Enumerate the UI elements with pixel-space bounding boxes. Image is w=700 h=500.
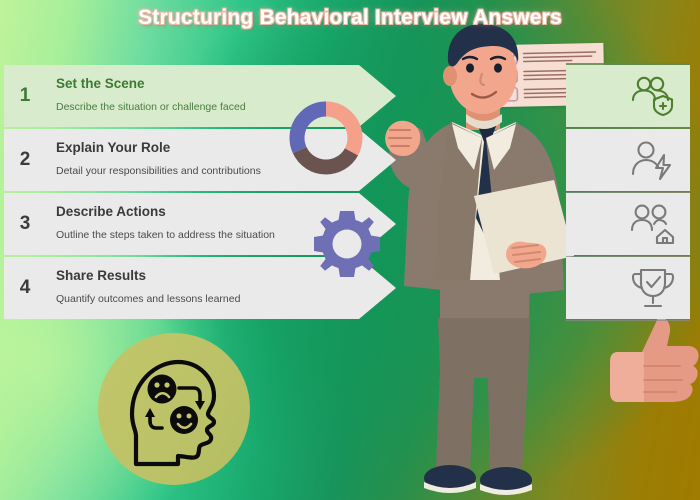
step-text-4: Share Results Quantify outcomes and less… <box>56 268 336 306</box>
panel-row-3[interactable] <box>566 193 690 255</box>
people-home-icon <box>630 203 676 245</box>
step-number-1: 1 <box>12 85 38 107</box>
step-number-4: 4 <box>12 277 38 299</box>
donut-chart <box>288 100 364 176</box>
panel-rule-4 <box>566 320 690 322</box>
step-title-3: Describe Actions <box>56 204 336 220</box>
users-add-shield-icon <box>630 75 676 117</box>
step-number-2: 2 <box>12 149 38 171</box>
panel-row-2[interactable] <box>566 129 690 191</box>
trophy-check-icon <box>630 267 676 309</box>
gear-icon <box>312 209 382 279</box>
businessman-illustration <box>378 18 593 500</box>
thumbs-up-icon <box>608 312 700 408</box>
person-lightning-icon <box>630 139 676 181</box>
panel-row-4[interactable] <box>566 257 690 319</box>
step-description-4: Quantify outcomes and lessons learned <box>56 293 336 306</box>
step-description-3: Outline the steps taken to address the s… <box>56 229 336 242</box>
step-title-4: Share Results <box>56 268 336 284</box>
panel-row-1[interactable] <box>566 65 690 127</box>
mindset-head-icon <box>122 352 228 467</box>
panel-rule-top-1 <box>566 63 690 65</box>
step-number-3: 3 <box>12 213 38 235</box>
step-text-3: Describe Actions Outline the steps taken… <box>56 204 336 242</box>
step-title-1: Set the Scene <box>56 76 336 92</box>
